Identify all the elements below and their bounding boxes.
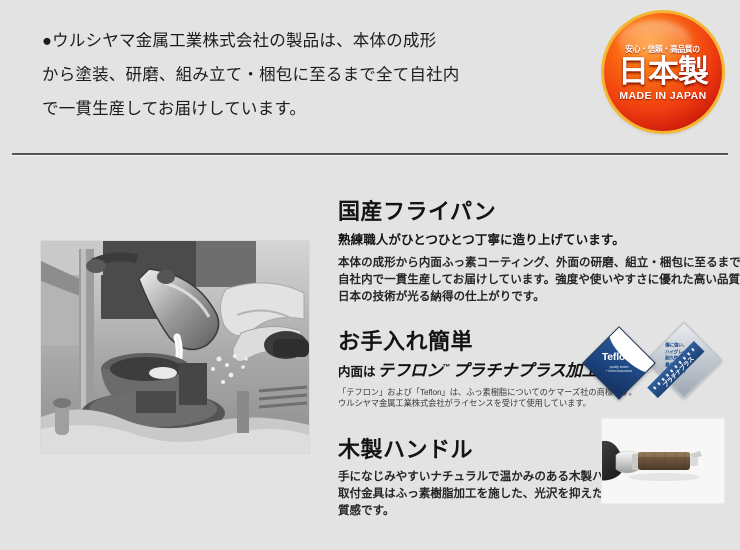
header-line-3: で一貫生産してお届けしています。 xyxy=(42,92,587,126)
body-line-1: 本体の成形から内面ふっ素コーティング、外面の研磨、組立・梱包に至るまで全て xyxy=(338,255,596,272)
section-domestic-frypan: 国産フライパン 熟練職人がひとつひとつ丁寧に造り上げています。 本体の成形から内… xyxy=(338,198,733,306)
teflon-brand-diamond: Teflon™ quality tested + brand assurance xyxy=(582,326,656,400)
teflon-tagline-line-2: + brand assurance xyxy=(606,369,633,373)
teflon-lead-brand: テフロン xyxy=(378,362,443,380)
badge-sub-label: MADE IN JAPAN xyxy=(619,90,706,102)
platinum-plus-diamond: 傷に強い、 ハイグレードの 耐久性 最高級の クオリティ プラチナプラス xyxy=(646,322,722,398)
teflon-tagline: quality tested + brand assurance xyxy=(606,365,633,374)
teflon-tm-symbol: ™ xyxy=(631,352,636,358)
body-line-3: 質感です。 xyxy=(338,503,596,520)
legal-line-1: 「テフロン」および「Teflon」は、ふっ素樹脂についてのケマーズ社の商標です。 xyxy=(338,387,590,399)
factory-photo xyxy=(40,240,310,454)
page-header: ●ウルシヤマ金属工業株式会社の製品は、本体の成形 から塗装、研磨、組み立て・梱包… xyxy=(0,0,740,153)
body-line-2: 自社内で一貫生産してお届けしています。強度や使いやすさに優れた高い品質は、 xyxy=(338,272,596,289)
section-body-wooden-handle: 手になじみやすいナチュラルで温かみのある木製ハンドル。 取付金具はふっ素樹脂加工… xyxy=(338,469,596,520)
badge-tagline: 安心・信頼・高品質の xyxy=(626,43,701,55)
header-line-1: ●ウルシヤマ金属工業株式会社の製品は、本体の成形 xyxy=(42,24,587,58)
wooden-handle-illustration xyxy=(602,419,724,503)
trademark-symbol: ™ xyxy=(442,363,450,372)
teflon-platinum-plus-logo: 傷に強い、 ハイグレードの 耐久性 最高級の クオリティ プラチナプラス Tef… xyxy=(583,327,735,409)
teflon-lead-grade: プラチナプラス加工 xyxy=(452,362,597,380)
section-title-domestic-frypan: 国産フライパン xyxy=(338,198,733,226)
header-intro-text: ●ウルシヤマ金属工業株式会社の製品は、本体の成形 から塗装、研磨、組み立て・梱包… xyxy=(42,24,587,126)
header-line-2: から塗装、研磨、組み立て・梱包に至るまで全て自社内 xyxy=(42,58,587,92)
teflon-lead-prefix: 内面は xyxy=(338,365,376,379)
handle-photo xyxy=(601,418,725,504)
teflon-brand-name: Teflon™ xyxy=(602,352,636,363)
body-line-1: 手になじみやすいナチュラルで温かみのある木製ハンドル。 xyxy=(338,469,596,486)
legal-line-2: ウルシヤマ金属工業株式会社がライセンスを受けて使用しています。 xyxy=(338,398,590,410)
foundry-casting-illustration xyxy=(41,241,309,453)
made-in-japan-badge: 安心・信頼・高品質の 日本製 MADE IN JAPAN xyxy=(604,13,722,131)
teflon-brand-content: Teflon™ quality tested + brand assurance xyxy=(594,338,644,388)
teflon-wordmark: Teflon xyxy=(602,351,632,363)
trademark-legal-note: 「テフロン」および「Teflon」は、ふっ素樹脂についてのケマーズ社の商標です。… xyxy=(338,387,590,410)
header-divider xyxy=(12,153,728,156)
section-body-domestic-frypan: 本体の成形から内面ふっ素コーティング、外面の研磨、組立・梱包に至るまで全て 自社… xyxy=(338,255,596,306)
body-line-2: 取付金具はふっ素樹脂加工を施した、光沢を抑えた落ち着いた xyxy=(338,486,596,503)
product-detail-page: ●ウルシヤマ金属工業株式会社の製品は、本体の成形 から塗装、研磨、組み立て・梱包… xyxy=(0,0,740,550)
badge-main-label: 日本製 xyxy=(618,56,708,87)
section-lead-domestic-frypan: 熟練職人がひとつひとつ丁寧に造り上げています。 xyxy=(338,232,733,249)
body-line-3: 日本の技術が光る納得の仕上がりです。 xyxy=(338,289,596,306)
